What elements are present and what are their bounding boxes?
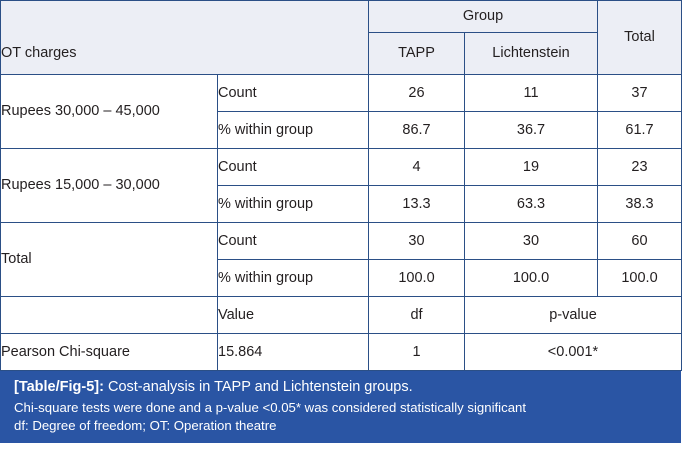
measure-label: Count <box>218 75 369 112</box>
measure-label: % within group <box>218 260 369 297</box>
header-tapp-label: TAPP <box>369 33 465 75</box>
caption-title-line: [Table/Fig-5]: Cost-analysis in TAPP and… <box>14 377 681 398</box>
value-total: 37 <box>598 75 682 112</box>
header-lichtenstein-label: Lichtenstein <box>465 33 598 75</box>
header-row-group: Group Total <box>1 1 682 33</box>
caption-figure-number: [Table/Fig-5]: <box>14 379 104 395</box>
value-total: 60 <box>598 223 682 260</box>
header-row-subcolumns: OT charges TAPP Lichtenstein <box>1 33 682 75</box>
measure-label: Count <box>218 149 369 186</box>
row-group-label: Rupees 15,000 – 30,000 <box>1 149 218 223</box>
measure-label: % within group <box>218 112 369 149</box>
value-tapp: 4 <box>369 149 465 186</box>
value-tapp: 86.7 <box>369 112 465 149</box>
value-tapp: 30 <box>369 223 465 260</box>
header-total-label: Total <box>598 1 682 75</box>
stat-test-pvalue: <0.001* <box>465 334 682 371</box>
stat-header-value: Value <box>218 297 369 334</box>
header-blank-cell <box>1 1 369 33</box>
figure-caption: [Table/Fig-5]: Cost-analysis in TAPP and… <box>0 371 681 443</box>
value-lichtenstein: 11 <box>465 75 598 112</box>
value-lichtenstein: 36.7 <box>465 112 598 149</box>
stat-header-row: Value df p-value <box>1 297 682 334</box>
table-row: Rupees 30,000 – 45,000 Count 26 11 37 <box>1 75 682 112</box>
stat-header-blank <box>1 297 218 334</box>
table-figure: Group Total OT charges TAPP Lichtenstein… <box>0 0 699 457</box>
value-lichtenstein: 19 <box>465 149 598 186</box>
measure-label: Count <box>218 223 369 260</box>
table-row: Total Count 30 30 60 <box>1 223 682 260</box>
table-body: Rupees 30,000 – 45,000 Count 26 11 37 % … <box>1 75 682 371</box>
row-group-label-total: Total <box>1 223 218 297</box>
value-total: 61.7 <box>598 112 682 149</box>
stat-test-name: Pearson Chi-square <box>1 334 218 371</box>
value-total: 23 <box>598 149 682 186</box>
value-lichtenstein: 63.3 <box>465 186 598 223</box>
table-row: Rupees 15,000 – 30,000 Count 4 19 23 <box>1 149 682 186</box>
value-tapp: 100.0 <box>369 260 465 297</box>
stat-test-value: 15.864 <box>218 334 369 371</box>
stat-header-df: df <box>369 297 465 334</box>
value-tapp: 13.3 <box>369 186 465 223</box>
measure-label: % within group <box>218 186 369 223</box>
caption-note-line: Chi-square tests were done and a p-value… <box>14 399 681 418</box>
stat-header-pvalue: p-value <box>465 297 682 334</box>
row-group-label: Rupees 30,000 – 45,000 <box>1 75 218 149</box>
header-ot-charges-label: OT charges <box>1 33 369 75</box>
stat-test-df: 1 <box>369 334 465 371</box>
stat-result-row: Pearson Chi-square 15.864 1 <0.001* <box>1 334 682 371</box>
caption-abbreviations-line: df: Degree of freedom; OT: Operation the… <box>14 417 681 436</box>
cost-analysis-table: Group Total OT charges TAPP Lichtenstein… <box>0 0 682 371</box>
value-lichtenstein: 30 <box>465 223 598 260</box>
value-lichtenstein: 100.0 <box>465 260 598 297</box>
value-total: 38.3 <box>598 186 682 223</box>
value-total: 100.0 <box>598 260 682 297</box>
table-header: Group Total OT charges TAPP Lichtenstein <box>1 1 682 75</box>
caption-title-text: Cost-analysis in TAPP and Lichtenstein g… <box>108 379 413 395</box>
value-tapp: 26 <box>369 75 465 112</box>
header-group-label: Group <box>369 1 598 33</box>
